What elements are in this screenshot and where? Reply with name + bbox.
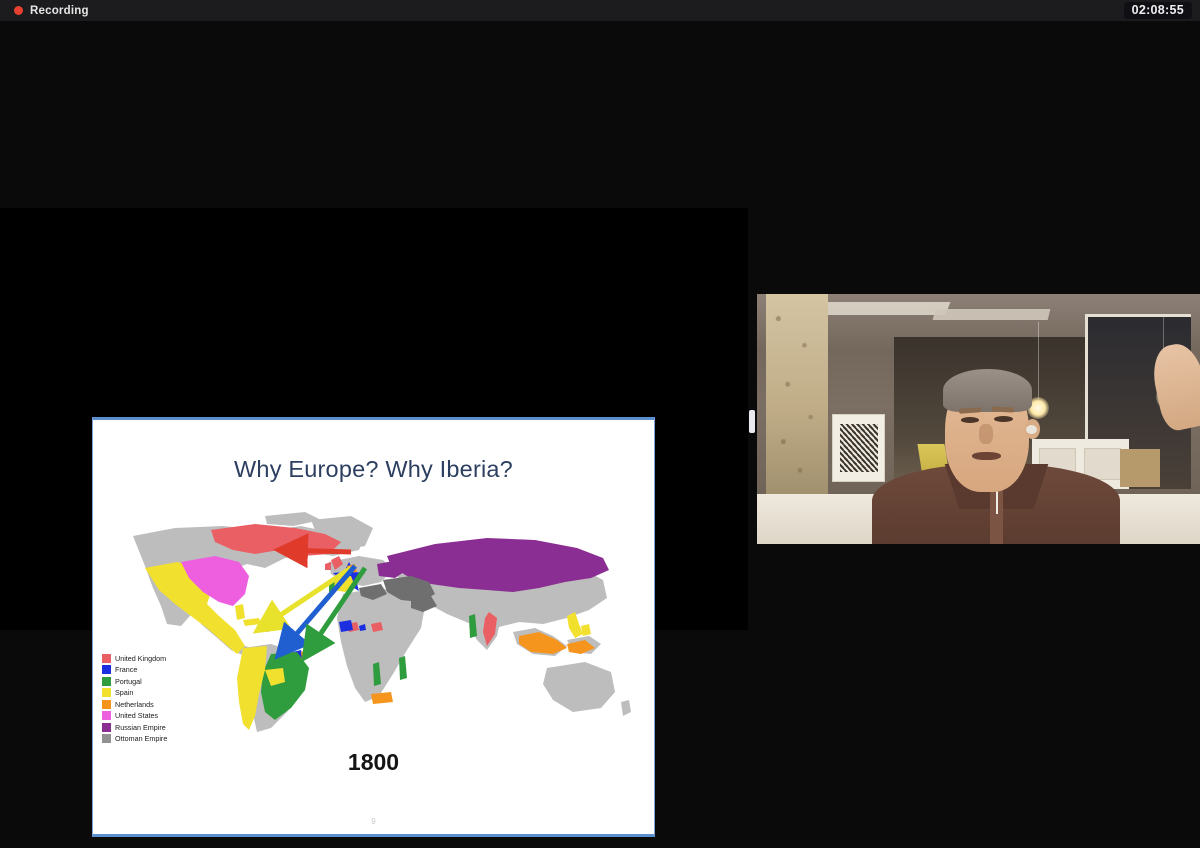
recording-indicator[interactable]: Recording xyxy=(14,5,89,17)
legend-swatch-russian-empire xyxy=(102,723,111,732)
legend-swatch-netherlands xyxy=(102,700,111,709)
legend-item-russian-empire: Russian Empire xyxy=(102,722,167,733)
legend-swatch-portugal xyxy=(102,677,111,686)
legend-label-ottoman-empire: Ottoman Empire xyxy=(115,734,167,743)
legend-swatch-united-states xyxy=(102,711,111,720)
legend-item-portugal: Portugal xyxy=(102,676,167,687)
map-legend: United Kingdom France Portugal Spain Net… xyxy=(102,653,167,744)
legend-item-netherlands: Netherlands xyxy=(102,699,167,710)
panel-drag-handle[interactable] xyxy=(749,410,755,433)
legend-label-united-kingdom: United Kingdom xyxy=(115,654,166,663)
legend-label-netherlands: Netherlands xyxy=(115,700,154,709)
legend-label-united-states: United States xyxy=(115,711,158,720)
legend-swatch-united-kingdom xyxy=(102,654,111,663)
legend-label-russian-empire: Russian Empire xyxy=(115,723,166,732)
legend-swatch-spain xyxy=(102,688,111,697)
legend-label-portugal: Portugal xyxy=(115,677,142,686)
slide-page-number: 9 xyxy=(93,817,654,826)
legend-item-france: France xyxy=(102,665,167,676)
meeting-timer: 02:08:55 xyxy=(1124,2,1192,19)
united-kingdom-arrow xyxy=(283,550,351,552)
participant-video-tile[interactable] xyxy=(757,294,1200,544)
top-bar: Recording 02:08:55 xyxy=(0,0,1200,21)
legend-swatch-ottoman-empire xyxy=(102,734,111,743)
legend-item-united-states: United States xyxy=(102,711,167,722)
world-map xyxy=(115,506,635,736)
record-dot-icon xyxy=(14,6,23,15)
legend-label-spain: Spain xyxy=(115,688,133,697)
world-map-svg xyxy=(115,506,635,736)
slide-year-label: 1800 xyxy=(93,749,654,776)
legend-item-ottoman-empire: Ottoman Empire xyxy=(102,734,167,745)
meeting-window: Recording 02:08:55 Why Europe? Why Iberi… xyxy=(0,0,1200,848)
legend-swatch-france xyxy=(102,665,111,674)
slide-title: Why Europe? Why Iberia? xyxy=(93,456,654,483)
video-feed xyxy=(757,294,1200,544)
legend-label-france: France xyxy=(115,665,137,674)
legend-item-united-kingdom: United Kingdom xyxy=(102,653,167,664)
legend-item-spain: Spain xyxy=(102,688,167,699)
recording-label: Recording xyxy=(30,5,89,17)
shared-screen-region[interactable]: Why Europe? Why Iberia? xyxy=(0,208,748,630)
presentation-slide[interactable]: Why Europe? Why Iberia? xyxy=(92,417,655,837)
